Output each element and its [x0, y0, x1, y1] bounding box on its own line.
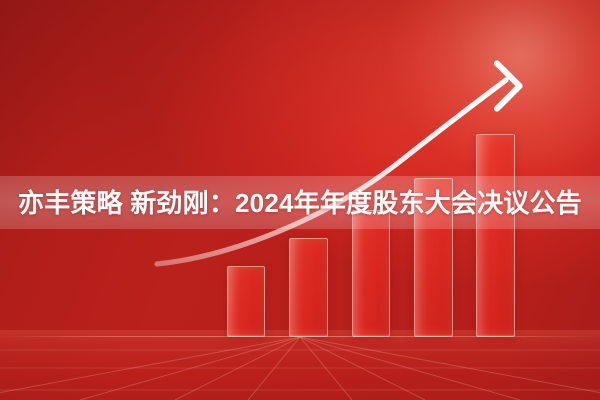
bar-base: [228, 334, 264, 337]
title-band: 亦丰策略 新劲刚：2024年年度股东大会决议公告: [0, 176, 600, 229]
page-title: 亦丰策略 新劲刚：2024年年度股东大会决议公告: [0, 190, 582, 216]
bar-base: [353, 334, 389, 337]
promo-banner: 亦丰策略 新劲刚：2024年年度股东大会决议公告: [0, 0, 600, 400]
bar-2: [289, 238, 328, 337]
bar-gloss: [290, 239, 303, 336]
bar-base: [415, 334, 452, 337]
bar-gloss: [477, 135, 490, 336]
bar-5: [476, 134, 515, 337]
bar-1: [227, 266, 265, 337]
bar-3: [352, 210, 390, 337]
bar-base: [290, 334, 327, 337]
bar-base: [477, 334, 514, 337]
bar-gloss: [228, 267, 240, 336]
bar-gloss: [353, 211, 365, 336]
